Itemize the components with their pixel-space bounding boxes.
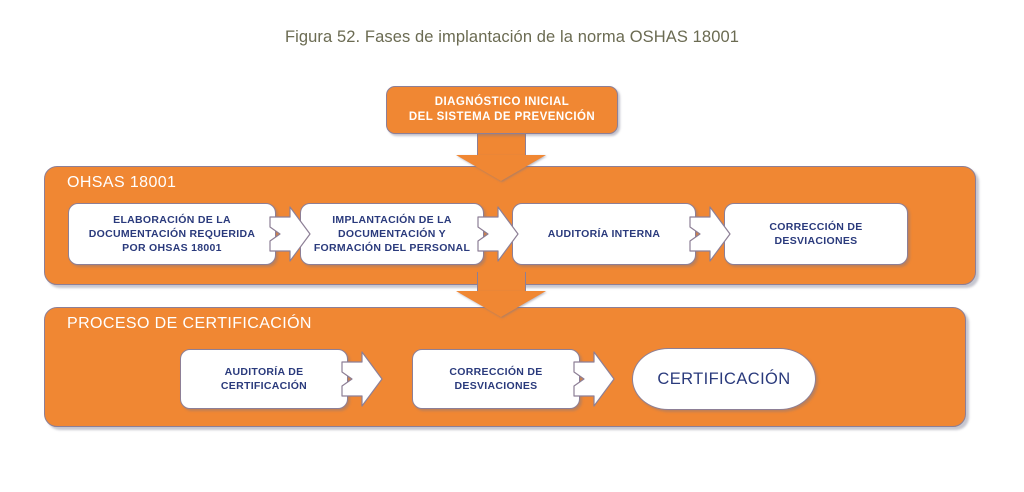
figure-title: Figura 52. Fases de implantación de la n… [0,28,1024,47]
step-label: CERTIFICACIÓN [650,372,797,386]
step-label: CORRECCIÓN DE DESVIACIONES [442,365,549,393]
figure-container: Figura 52. Fases de implantación de la n… [0,0,1024,492]
step-correccion-desviaciones-cert: CORRECCIÓN DE DESVIACIONES [412,349,580,409]
panel-title-proceso-certificacion: PROCESO DE CERTIFICACIÓN [67,315,312,333]
step-label: CORRECCIÓN DE DESVIACIONES [762,220,869,248]
step-auditoria-interna: AUDITORÍA INTERNA [512,203,696,265]
step-elaboracion-documentacion: ELABORACIÓN DE LA DOCUMENTACIÓN REQUERID… [68,203,276,265]
step-implantacion-documentacion: IMPLANTACIÓN DE LA DOCUMENTACIÓN Y FORMA… [300,203,484,265]
step-certificacion: CERTIFICACIÓN [632,348,816,410]
callout-line-2: DEL SISTEMA DE PREVENCIÓN [409,110,595,125]
step-label: ELABORACIÓN DE LA DOCUMENTACIÓN REQUERID… [82,213,263,255]
step-correccion-desviaciones: CORRECCIÓN DE DESVIACIONES [724,203,908,265]
step-label: IMPLANTACIÓN DE LA DOCUMENTACIÓN Y FORMA… [307,213,477,255]
step-auditoria-certificacion: AUDITORÍA DE CERTIFICACIÓN [180,349,348,409]
panel-connector-arrow-head-icon [456,291,546,317]
step-label: AUDITORÍA INTERNA [541,227,667,241]
step-label: AUDITORÍA DE CERTIFICACIÓN [214,365,314,393]
callout-arrow-head-icon [456,155,546,181]
callout-arrow-stem [477,131,526,157]
callout-diagnostico-inicial: DIAGNÓSTICO INICIAL DEL SISTEMA DE PREVE… [386,86,618,134]
panel-title-ohsas: OHSAS 18001 [67,174,176,192]
callout-line-1: DIAGNÓSTICO INICIAL [435,95,569,110]
